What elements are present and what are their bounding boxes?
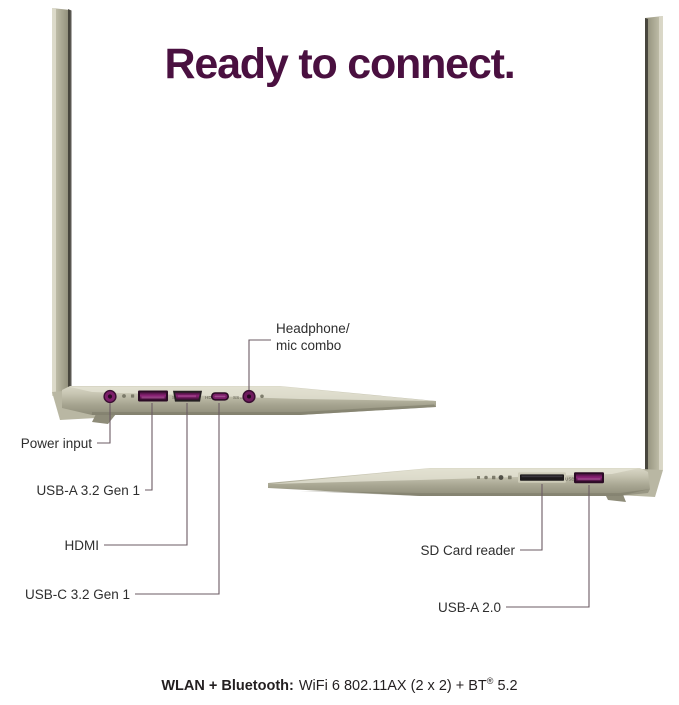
hdmi-port-icon (173, 391, 202, 402)
laptop-left-graphic: SS← HDMI SS← (52, 8, 436, 424)
label-headphone-mic-combo: Headphone/ mic combo (276, 320, 350, 355)
label-usb-a-32-gen1: USB-A 3.2 Gen 1 (0, 482, 140, 499)
leader-usba (145, 403, 152, 490)
label-sd-card-reader: SD Card reader (330, 542, 515, 559)
svg-text:SS←: SS← (233, 395, 244, 400)
usb-c-port-icon (211, 392, 229, 400)
usb-a-port-icon (574, 472, 604, 483)
label-hdmi: HDMI (0, 537, 99, 554)
label-usb-a-20: USB-A 2.0 (330, 599, 501, 616)
usb-a-port-icon (138, 391, 168, 402)
sd-card-slot-icon (518, 472, 566, 482)
leader-usba2 (506, 485, 589, 607)
wlan-bluetooth-version: 5.2 (493, 678, 517, 694)
svg-text:USB: USB (565, 477, 574, 482)
label-usb-c-32-gen1: USB-C 3.2 Gen 1 (0, 586, 130, 603)
wlan-bluetooth-spec: WLAN + Bluetooth:WiFi 6 802.11AX (2 x 2)… (0, 676, 679, 694)
label-power-input: Power input (0, 435, 92, 452)
indicator-dot-left (260, 395, 264, 399)
wlan-bluetooth-value: WiFi 6 802.11AX (2 x 2) + BT (299, 678, 487, 694)
wlan-bluetooth-label: WLAN + Bluetooth: (161, 678, 294, 694)
infographic-canvas: Ready to connect. (0, 0, 679, 705)
headphone-jack-icon (242, 390, 255, 403)
laptop-right-graphic: USB (268, 16, 663, 502)
leader-hdmi (104, 403, 187, 545)
power-jack-icon (103, 390, 116, 403)
leader-audio (249, 340, 271, 390)
leader-usbc (135, 403, 219, 594)
